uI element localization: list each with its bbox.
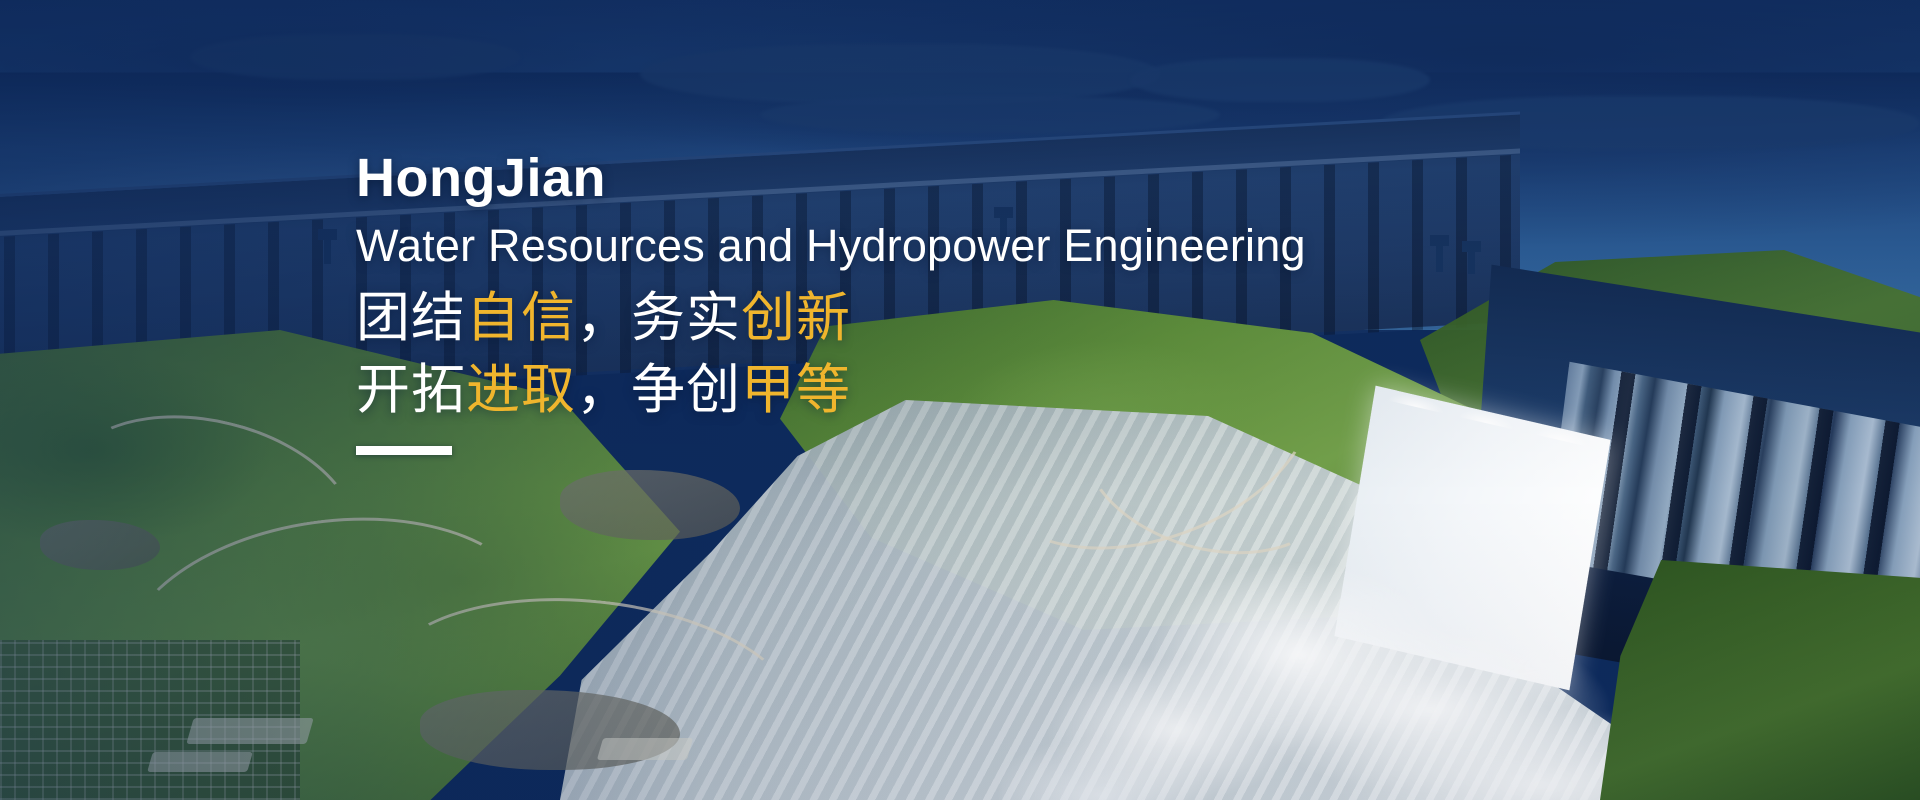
slogan-l2-seg3: ，争创 bbox=[576, 360, 741, 420]
slogan-block: 团结自信，务实创新 开拓进取，争创甲等 bbox=[356, 282, 1556, 427]
slogan-l2-seg4-highlight: 甲等 bbox=[741, 360, 851, 420]
slogan-line-1: 团结自信，务实创新 bbox=[356, 282, 1556, 354]
island-shape bbox=[1130, 58, 1430, 102]
accent-underline-bar bbox=[356, 446, 452, 455]
island-shape bbox=[190, 34, 520, 80]
slogan-l2-seg2-highlight: 进取 bbox=[466, 360, 576, 420]
hero-text-overlay: HongJian Water Resources and Hydropower … bbox=[356, 150, 1556, 455]
bare-ground-patch bbox=[560, 470, 740, 540]
field-plot bbox=[147, 752, 253, 772]
island-shape bbox=[640, 44, 1160, 104]
island-shape bbox=[760, 96, 1220, 134]
slogan-l2-seg1: 开拓 bbox=[356, 360, 466, 420]
landscape-bottom-right bbox=[1600, 560, 1920, 800]
field-plot bbox=[597, 738, 693, 760]
slogan-l1-seg2-highlight: 自信 bbox=[466, 288, 576, 348]
gantry-tower bbox=[324, 238, 331, 264]
slogan-l1-seg4-highlight: 创新 bbox=[741, 288, 851, 348]
field-plot bbox=[186, 718, 313, 744]
brand-name: HongJian bbox=[356, 150, 1556, 207]
brand-tagline-english: Water Resources and Hydropower Engineeri… bbox=[356, 221, 1556, 271]
slogan-l1-seg3: ，务实 bbox=[576, 288, 741, 348]
spray-plume bbox=[1000, 545, 1700, 800]
hero-banner: HongJian Water Resources and Hydropower … bbox=[0, 0, 1920, 800]
slogan-line-2: 开拓进取，争创甲等 bbox=[356, 354, 1556, 426]
slogan-l1-seg1: 团结 bbox=[356, 288, 466, 348]
